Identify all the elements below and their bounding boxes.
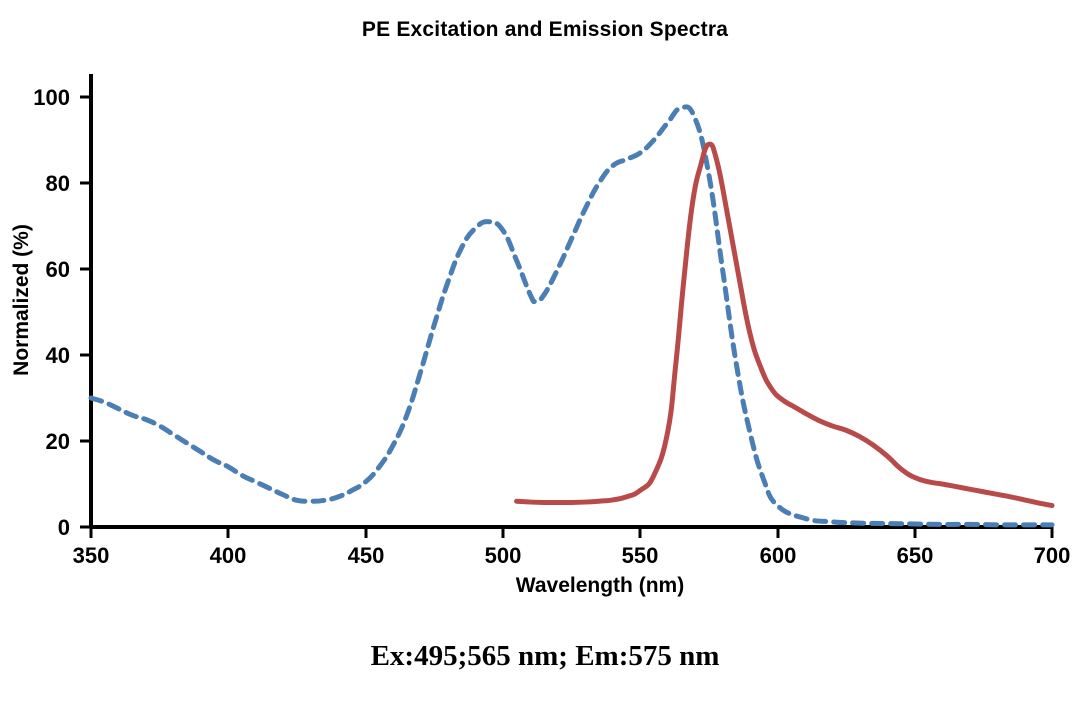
y-tick-label: 80 <box>46 171 70 196</box>
x-tick-label: 550 <box>622 543 659 568</box>
y-tick-label: 100 <box>33 85 70 110</box>
y-tick-label: 60 <box>46 257 70 282</box>
x-axis-title: Wavelength (nm) <box>516 574 684 597</box>
x-tick-label: 650 <box>897 543 934 568</box>
emission-curve <box>517 144 1052 505</box>
spectra-figure: PE Excitation and Emission Spectra <box>0 0 1090 704</box>
y-tick-label: 40 <box>46 343 70 368</box>
x-tick-label: 600 <box>760 543 797 568</box>
spectra-plot: 100 80 60 40 20 0 350 400 450 500 550 60… <box>0 0 1090 704</box>
y-tick-labels: 100 80 60 40 20 0 <box>33 85 70 540</box>
x-tick-label: 500 <box>485 543 522 568</box>
x-tick-label: 350 <box>73 543 110 568</box>
y-axis-title: Normalized (%) <box>10 224 33 376</box>
x-tick-label: 400 <box>210 543 247 568</box>
x-tick-labels: 350 400 450 500 550 600 650 700 <box>73 543 1071 568</box>
y-tick-label: 20 <box>46 429 70 454</box>
excitation-curve <box>91 107 1052 525</box>
y-tick-label: 0 <box>58 515 70 540</box>
x-tick-label: 450 <box>348 543 385 568</box>
figure-caption: Ex:495;565 nm; Em:575 nm <box>0 640 1090 673</box>
x-tick-label: 700 <box>1034 543 1071 568</box>
